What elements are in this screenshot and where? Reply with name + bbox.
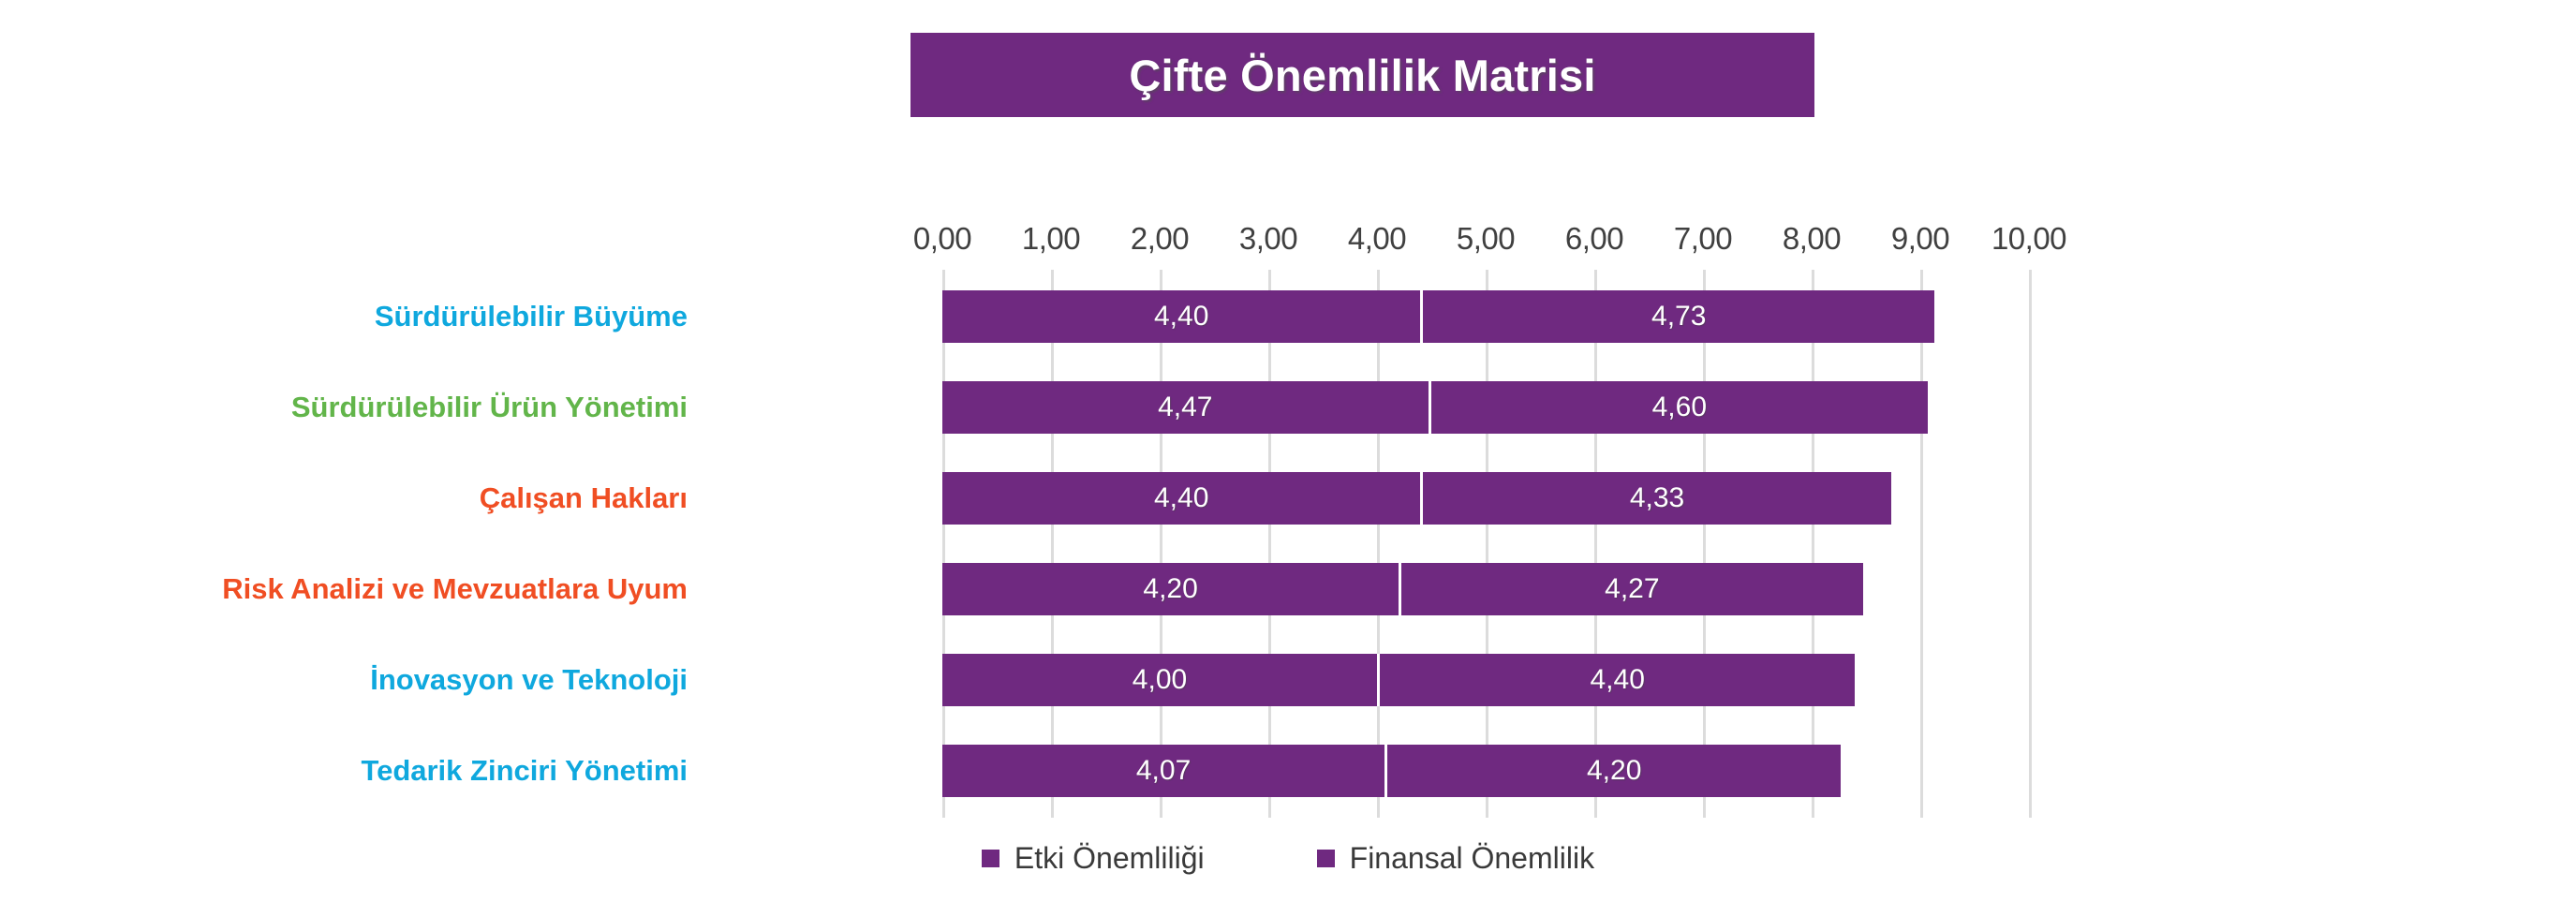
bar-segment-finansal[interactable]: 4,33	[1420, 472, 1890, 525]
bar-segment-etki[interactable]: 4,07	[942, 745, 1384, 797]
double-materiality-bar-chart: 0,001,002,003,004,005,006,007,008,009,00…	[0, 0, 2576, 902]
bar-value-label: 4,73	[1651, 301, 1706, 333]
bar-row: Sürdürülebilir Büyüme4,404,73	[0, 290, 2576, 343]
stacked-bar[interactable]: 4,074,20	[942, 745, 1841, 797]
bar-segment-etki[interactable]: 4,40	[942, 472, 1420, 525]
bar-row: İnovasyon ve Teknoloji4,004,40	[0, 654, 2576, 706]
bar-segment-finansal[interactable]: 4,20	[1384, 745, 1841, 797]
bar-row: Tedarik Zinciri Yönetimi4,074,20	[0, 745, 2576, 797]
bar-row: Sürdürülebilir Ürün Yönetimi4,474,60	[0, 381, 2576, 434]
x-tick-label: 8,00	[1783, 221, 1841, 257]
bar-row: Risk Analizi ve Mevzuatlara Uyum4,204,27	[0, 563, 2576, 615]
stacked-bar[interactable]: 4,404,33	[942, 472, 1891, 525]
legend-swatch-icon	[982, 850, 999, 867]
x-tick-label: 3,00	[1239, 221, 1297, 257]
gridline	[1268, 270, 1271, 818]
bar-value-label: 4,00	[1133, 664, 1187, 696]
x-tick-label: 9,00	[1891, 221, 1949, 257]
bar-value-label: 4,07	[1136, 755, 1191, 787]
bar-value-label: 4,20	[1143, 573, 1197, 605]
bar-value-label: 4,20	[1587, 755, 1641, 787]
bar-value-label: 4,40	[1591, 664, 1645, 696]
x-tick-label: 0,00	[913, 221, 971, 257]
bar-segment-etki[interactable]: 4,20	[942, 563, 1399, 615]
bar-segment-finansal[interactable]: 4,73	[1420, 290, 1934, 343]
gridline	[1051, 270, 1054, 818]
bar-segment-finansal[interactable]: 4,27	[1399, 563, 1862, 615]
gridline	[1377, 270, 1380, 818]
bar-value-label: 4,40	[1154, 301, 1208, 333]
gridline	[1486, 270, 1488, 818]
bar-segment-etki[interactable]: 4,00	[942, 654, 1377, 706]
gridline	[1920, 270, 1923, 818]
bar-segment-finansal[interactable]: 4,40	[1377, 654, 1855, 706]
gridline	[942, 270, 945, 818]
category-label: Tedarik Zinciri Yönetimi	[361, 754, 688, 788]
x-tick-label: 7,00	[1674, 221, 1732, 257]
x-tick-label: 6,00	[1565, 221, 1623, 257]
bar-value-label: 4,40	[1154, 482, 1208, 514]
stacked-bar[interactable]: 4,404,73	[942, 290, 1934, 343]
x-axis-tick-labels: 0,001,002,003,004,005,006,007,008,009,00…	[0, 221, 2576, 264]
bar-segment-finansal[interactable]: 4,60	[1429, 381, 1929, 434]
legend-label: Finansal Önemlilik	[1350, 841, 1594, 876]
gridline	[1160, 270, 1162, 818]
x-tick-label: 4,00	[1348, 221, 1406, 257]
stacked-bar[interactable]: 4,204,27	[942, 563, 1863, 615]
stacked-bar[interactable]: 4,474,60	[942, 381, 1928, 434]
legend-item[interactable]: Finansal Önemlilik	[1317, 841, 1594, 876]
x-tick-label: 10,00	[1991, 221, 2066, 257]
category-label: Sürdürülebilir Büyüme	[375, 300, 688, 333]
x-tick-label: 5,00	[1457, 221, 1515, 257]
gridline	[1594, 270, 1597, 818]
bar-value-label: 4,60	[1652, 392, 1707, 423]
bar-value-label: 4,47	[1158, 392, 1212, 423]
stacked-bar[interactable]: 4,004,40	[942, 654, 1855, 706]
legend-item[interactable]: Etki Önemliliği	[982, 841, 1205, 876]
chart-legend: Etki ÖnemliliğiFinansal Önemlilik	[0, 841, 2576, 876]
category-label: Çalışan Hakları	[480, 481, 688, 515]
bar-value-label: 4,33	[1630, 482, 1684, 514]
legend-swatch-icon	[1317, 850, 1335, 867]
x-tick-label: 2,00	[1131, 221, 1189, 257]
gridline	[1812, 270, 1814, 818]
gridline	[1703, 270, 1706, 818]
bar-value-label: 4,27	[1605, 573, 1659, 605]
category-label: İnovasyon ve Teknoloji	[370, 663, 688, 697]
bar-segment-etki[interactable]: 4,40	[942, 290, 1420, 343]
x-tick-label: 1,00	[1022, 221, 1080, 257]
category-label: Sürdürülebilir Ürün Yönetimi	[291, 391, 688, 424]
plot-area	[942, 270, 2029, 818]
bar-segment-etki[interactable]: 4,47	[942, 381, 1429, 434]
gridline	[2029, 270, 2032, 818]
legend-label: Etki Önemliliği	[1014, 841, 1205, 876]
category-label: Risk Analizi ve Mevzuatlara Uyum	[222, 572, 688, 606]
bar-row: Çalışan Hakları4,404,33	[0, 472, 2576, 525]
